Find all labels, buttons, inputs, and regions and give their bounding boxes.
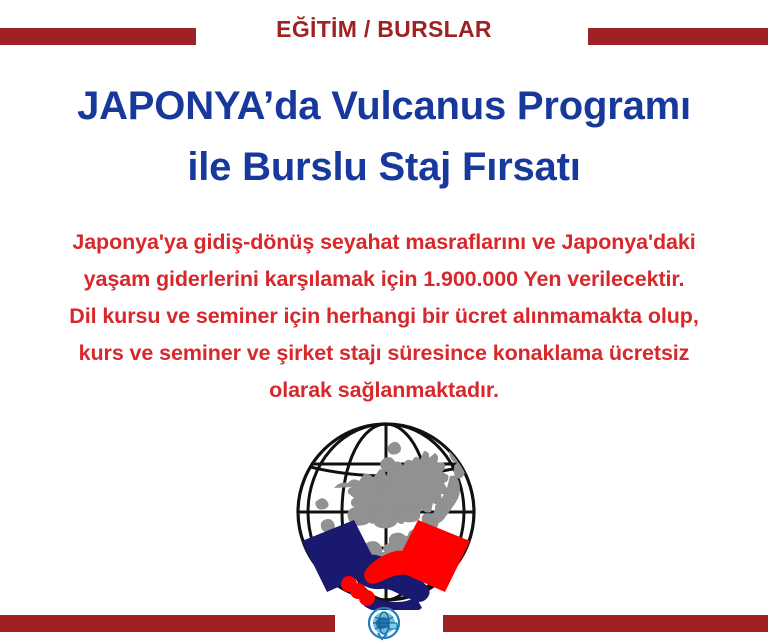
body-line-5: olarak sağlanmaktadır. [24, 372, 744, 409]
body-line-3: Dil kursu ve seminer için herhangi bir ü… [24, 298, 744, 335]
category-kicker: EĞİTİM / BURSLAR [0, 16, 768, 42]
body-line-4: kurs ve seminer ve şirket stajı süresinc… [24, 335, 744, 372]
page-title-line-2: ile Burslu Staj Fırsatı [0, 137, 768, 198]
globe-badge-logo [358, 603, 410, 643]
footer-rule-left [0, 615, 335, 632]
eu-japan-globe-handshake-logo [272, 414, 500, 610]
body-paragraph: Japonya'ya gidiş-dönüş seyahat masraflar… [24, 224, 744, 409]
page-title: JAPONYA’da Vulcanus Programı ile Burslu … [0, 76, 768, 198]
footer-band [0, 600, 768, 644]
body-line-2: yaşam giderlerini karşılamak için 1.900.… [24, 261, 744, 298]
body-line-1: Japonya'ya gidiş-dönüş seyahat masraflar… [24, 224, 744, 261]
header-band: EĞİTİM / BURSLAR [0, 0, 768, 62]
page-title-line-1: JAPONYA’da Vulcanus Programı [0, 76, 768, 137]
footer-rule-right [443, 615, 768, 632]
